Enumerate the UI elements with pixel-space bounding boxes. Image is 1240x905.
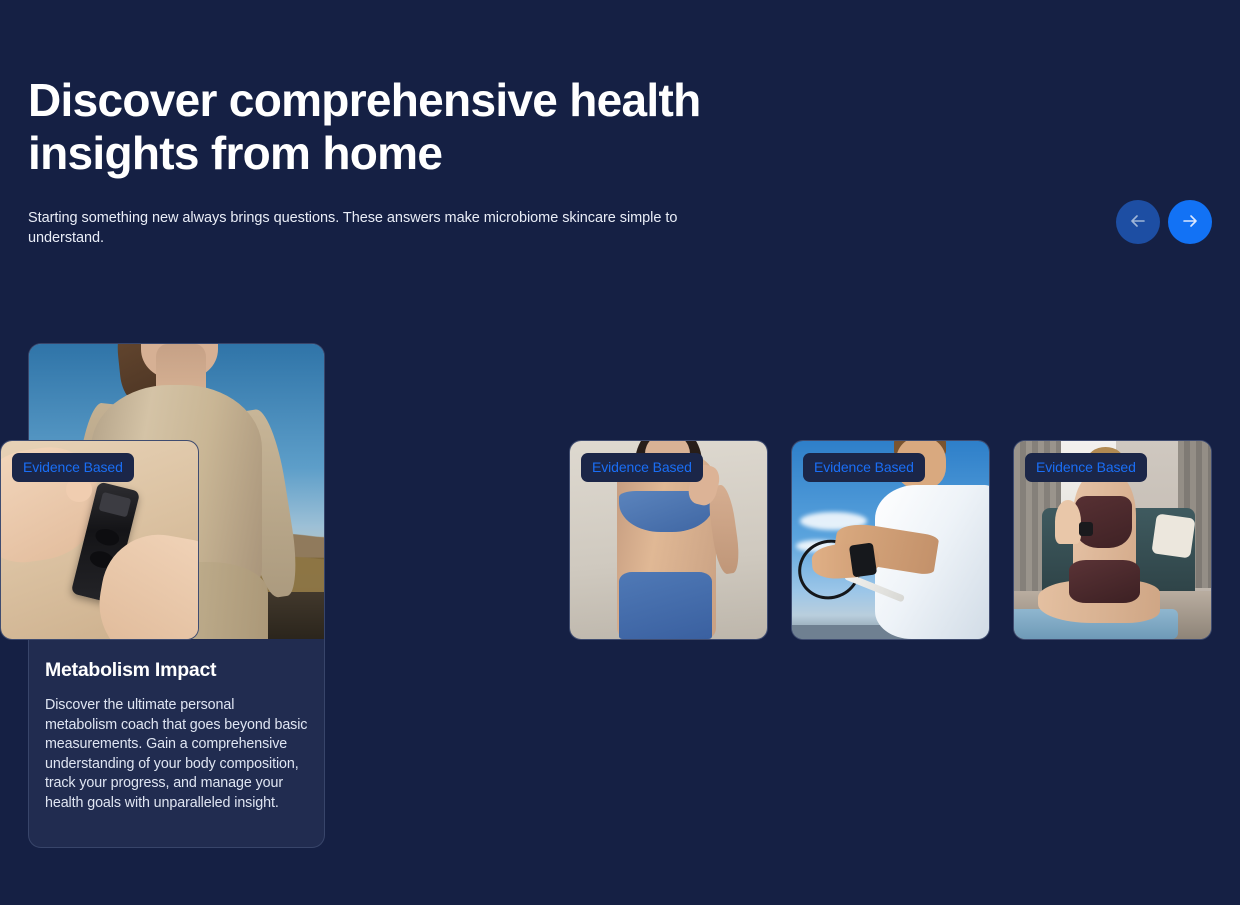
page-subtitle: Starting something new always brings que… [28, 208, 700, 248]
arrow-left-icon [1128, 211, 1148, 234]
featured-card-title: Metabolism Impact [45, 658, 308, 682]
evidence-based-badge: Evidence Based [12, 453, 134, 482]
featured-card-description: Discover the ultimate personal metabolis… [45, 696, 308, 813]
page-title: Discover comprehensive health insights f… [28, 74, 808, 180]
thumbnail-card-1[interactable]: Evidence Based [569, 440, 768, 640]
thumbnail-card-4[interactable]: Evidence Based [0, 440, 199, 640]
card-carousel: Metabolism Impact Discover the ultimate … [0, 335, 1240, 865]
thumbnail-card-2[interactable]: Evidence Based [791, 440, 990, 640]
thumbnail-card-3[interactable]: Evidence Based [1013, 440, 1212, 640]
carousel-prev-button[interactable] [1116, 200, 1160, 244]
evidence-based-badge: Evidence Based [581, 453, 703, 482]
arrow-right-icon [1180, 211, 1200, 234]
evidence-based-badge: Evidence Based [803, 453, 925, 482]
page-header: Discover comprehensive health insights f… [0, 0, 1240, 300]
evidence-based-badge: Evidence Based [1025, 453, 1147, 482]
carousel-next-button[interactable] [1168, 200, 1212, 244]
carousel-nav [1116, 200, 1212, 244]
